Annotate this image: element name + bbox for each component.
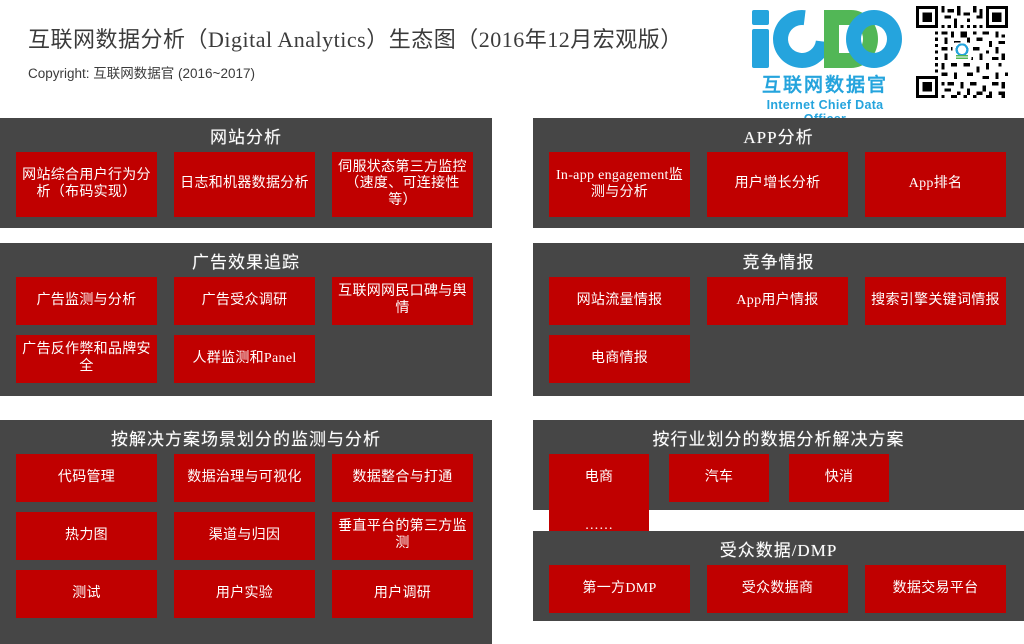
page-header: 互联网数据分析（Digital Analytics）生态图（2016年12月宏观… <box>0 0 1024 110</box>
panel-website-analytics: 网站分析 网站综合用户行为分析（布码实现） 日志和机器数据分析 伺服状态第三方监… <box>0 118 492 228</box>
panel-title: 竞争情报 <box>533 243 1024 277</box>
cell-item[interactable]: 代码管理 <box>16 454 157 502</box>
panel-title: 按行业划分的数据分析解决方案 <box>533 420 1024 454</box>
page-title: 互联网数据分析（Digital Analytics）生态图（2016年12月宏观… <box>28 22 683 54</box>
panel-title: 受众数据/DMP <box>533 531 1024 565</box>
icdo-logo: 互联网数据官 Internet Chief Data Officer <box>746 8 904 103</box>
panel-cell-grid: 网站综合用户行为分析（布码实现） 日志和机器数据分析 伺服状态第三方监控（速度、… <box>0 152 492 227</box>
panel-app-analytics: APP分析 In-app engagement监测与分析 用户增长分析 App排… <box>533 118 1024 228</box>
cell-item[interactable]: 人群监测和Panel <box>174 335 315 383</box>
cell-item[interactable]: 用户增长分析 <box>707 152 848 217</box>
cell-item[interactable]: 快消 <box>789 454 889 502</box>
cell-item[interactable]: 汽车 <box>669 454 769 502</box>
cell-item[interactable]: App排名 <box>865 152 1006 217</box>
cell-item[interactable]: App用户情报 <box>707 277 848 325</box>
panel-title: 按解决方案场景划分的监测与分析 <box>0 420 492 454</box>
cell-item[interactable]: 数据整合与打通 <box>332 454 473 502</box>
panel-title: APP分析 <box>533 118 1024 152</box>
cell-item[interactable]: 日志和机器数据分析 <box>174 152 315 217</box>
cell-item[interactable]: 伺服状态第三方监控（速度、可连接性等） <box>332 152 473 217</box>
cell-item[interactable]: 数据交易平台 <box>865 565 1006 613</box>
cell-item[interactable]: 测试 <box>16 570 157 618</box>
cell-item[interactable]: 用户实验 <box>174 570 315 618</box>
title-block: 互联网数据分析（Digital Analytics）生态图（2016年12月宏观… <box>28 22 683 82</box>
cell-item[interactable]: 互联网网民口碑与舆情 <box>332 277 473 325</box>
panel-cell-grid: 第一方DMP 受众数据商 数据交易平台 <box>533 565 1024 623</box>
cell-item[interactable]: 电商 <box>549 454 649 502</box>
cell-item[interactable]: 数据治理与可视化 <box>174 454 315 502</box>
cell-item[interactable]: 热力图 <box>16 512 157 560</box>
panel-solution-scenario: 按解决方案场景划分的监测与分析 代码管理 数据治理与可视化 数据整合与打通 热力… <box>0 420 492 644</box>
cell-item[interactable]: 受众数据商 <box>707 565 848 613</box>
panel-cell-grid: 广告监测与分析 广告受众调研 互联网网民口碑与舆情 广告反作弊和品牌安全 人群监… <box>0 277 492 393</box>
qr-code-icon <box>916 6 1008 98</box>
cell-item[interactable]: 电商情报 <box>549 335 690 383</box>
cell-item[interactable]: In-app engagement监测与分析 <box>549 152 690 217</box>
panel-competitive-intelligence: 竞争情报 网站流量情报 App用户情报 搜索引擎关键词情报 电商情报 <box>533 243 1024 396</box>
panel-cell-grid: 代码管理 数据治理与可视化 数据整合与打通 热力图 渠道与归因 垂直平台的第三方… <box>0 454 492 628</box>
cell-item[interactable]: 广告反作弊和品牌安全 <box>16 335 157 383</box>
cell-item[interactable]: 渠道与归因 <box>174 512 315 560</box>
panel-cell-grid: 网站流量情报 App用户情报 搜索引擎关键词情报 电商情报 <box>533 277 1024 393</box>
cell-item[interactable]: 用户调研 <box>332 570 473 618</box>
panel-title: 网站分析 <box>0 118 492 152</box>
logo-cn-name: 互联网数据官 <box>746 70 904 97</box>
panel-ad-effect-tracking: 广告效果追踪 广告监测与分析 广告受众调研 互联网网民口碑与舆情 广告反作弊和品… <box>0 243 492 396</box>
cell-item[interactable]: 网站流量情报 <box>549 277 690 325</box>
copyright-text: Copyright: 互联网数据官 (2016~2017) <box>28 62 683 82</box>
cell-item[interactable]: 广告监测与分析 <box>16 277 157 325</box>
panel-industry-solution: 按行业划分的数据分析解决方案 电商 汽车 快消 …… <box>533 420 1024 510</box>
cell-item[interactable]: 搜索引擎关键词情报 <box>865 277 1006 325</box>
cell-item[interactable]: 第一方DMP <box>549 565 690 613</box>
cell-item[interactable]: 垂直平台的第三方监测 <box>332 512 473 560</box>
icdo-wordmark-icon <box>746 8 904 68</box>
panel-audience-data-dmp: 受众数据/DMP 第一方DMP 受众数据商 数据交易平台 <box>533 531 1024 621</box>
cell-item[interactable]: 网站综合用户行为分析（布码实现） <box>16 152 157 217</box>
panel-title: 广告效果追踪 <box>0 243 492 277</box>
panel-cell-grid: In-app engagement监测与分析 用户增长分析 App排名 <box>533 152 1024 227</box>
cell-item[interactable]: 广告受众调研 <box>174 277 315 325</box>
